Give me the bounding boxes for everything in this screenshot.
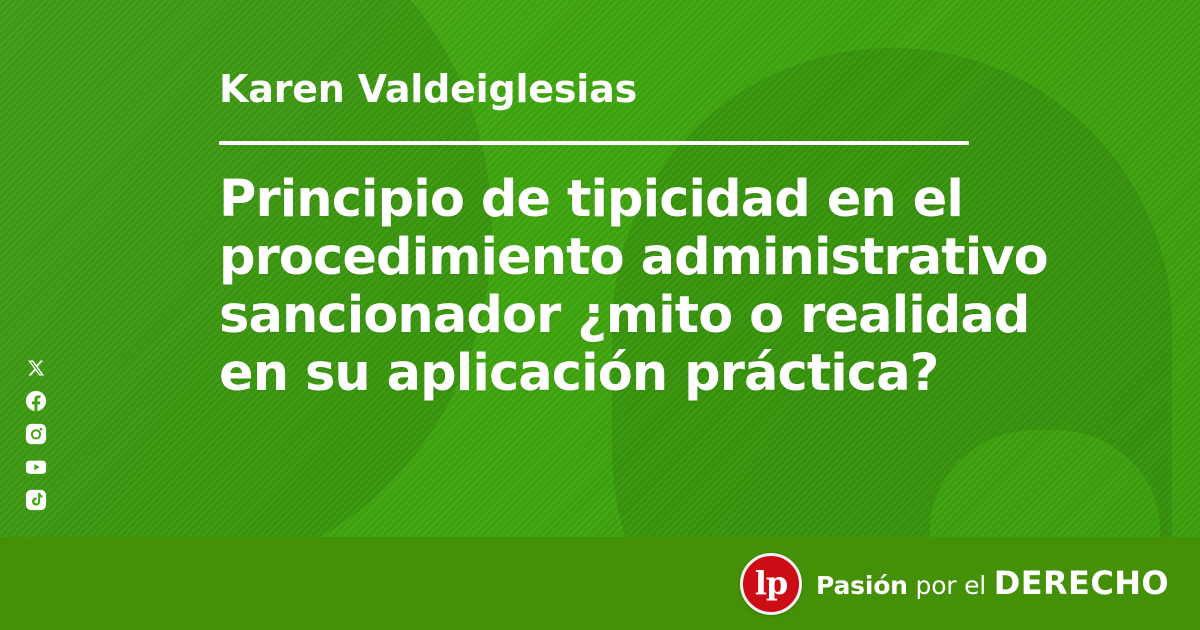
brand-tagline-line1: Pasión por el [816,571,994,600]
headline-title: Principio de tipicidad en el procedimien… [219,145,1059,403]
brand-logo[interactable]: lp Pasión por el DERECHO [740,553,1169,615]
facebook-icon [25,390,47,412]
brand-wordmark: Pasión por el DERECHO [816,567,1169,600]
social-link-instagram[interactable] [24,422,48,446]
social-link-x[interactable] [24,356,48,380]
lp-logo-mark-icon: lp [740,553,802,615]
youtube-icon [25,456,47,478]
x-twitter-icon [26,358,46,378]
brand-name-derecho: DERECHO [994,564,1169,602]
instagram-icon [25,423,47,445]
social-links-rail [24,356,50,512]
social-link-tiktok[interactable] [24,488,48,512]
social-link-youtube[interactable] [24,455,48,479]
brand-tagline-light: por el [908,571,986,600]
social-share-card: Karen Valdeiglesias Principio de tipicid… [0,0,1200,630]
bottom-bar: lp Pasión por el DERECHO [0,537,1200,630]
author-name: Karen Valdeiglesias [219,0,649,111]
social-link-facebook[interactable] [24,389,48,413]
tiktok-icon [25,489,47,511]
lp-logo-letters: lp [755,567,788,599]
brand-tagline-strong: Pasión [816,571,908,600]
card-content: Karen Valdeiglesias Principio de tipicid… [219,0,1059,402]
